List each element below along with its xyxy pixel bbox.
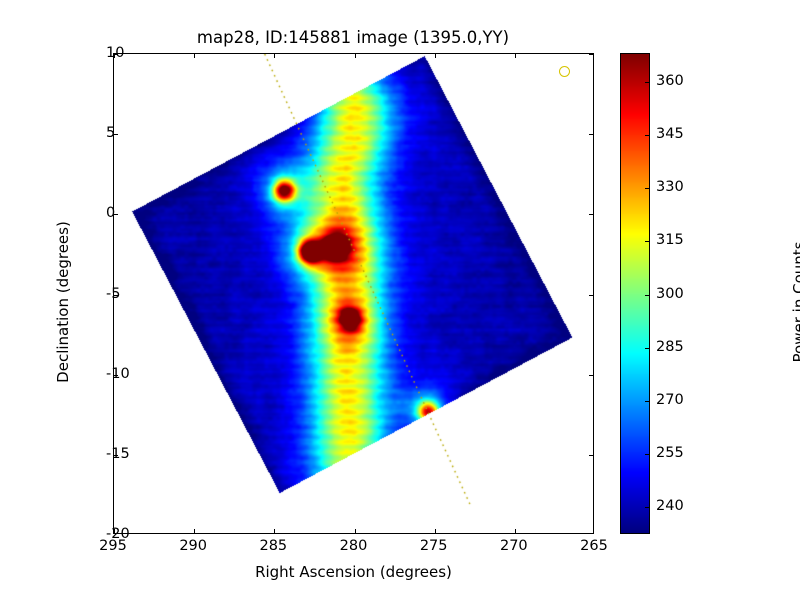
x-tick	[355, 529, 356, 533]
x-tick-top	[194, 54, 195, 58]
colorbar-tick	[645, 507, 649, 508]
colorbar-tick-label: 255	[656, 445, 684, 461]
sky-image	[114, 54, 594, 534]
x-tick-top	[515, 54, 516, 58]
y-tick-right	[589, 455, 593, 456]
x-tick-label: 275	[420, 538, 448, 554]
x-tick-label: 285	[259, 538, 287, 554]
colorbar-tick-label: 330	[656, 179, 684, 195]
y-tick-label: -5	[106, 286, 120, 302]
y-tick-label: 5	[106, 125, 115, 141]
y-tick-right	[589, 375, 593, 376]
colorbar-tick	[645, 454, 649, 455]
colorbar-tick-label: 285	[656, 339, 684, 355]
y-tick-right	[589, 295, 593, 296]
y-tick-right	[589, 134, 593, 135]
x-axis-label: Right Ascension (degrees)	[113, 563, 594, 581]
y-tick-label: 0	[106, 205, 115, 221]
colorbar-tick-label: 315	[656, 232, 684, 248]
y-tick-label: -15	[106, 446, 130, 462]
colorbar-tick	[645, 295, 649, 296]
colorbar-tick	[645, 241, 649, 242]
y-axis-label: Declination (degrees)	[54, 202, 72, 402]
colorbar-tick-label: 270	[656, 392, 684, 408]
colorbar-label: Power in Counts	[790, 202, 800, 402]
figure: map28, ID:145881 image (1395.0,YY) Right…	[0, 0, 800, 600]
colorbar-gradient	[621, 54, 649, 533]
x-tick-label: 290	[179, 538, 207, 554]
colorbar-tick-label: 300	[656, 286, 684, 302]
x-tick-top	[435, 54, 436, 58]
colorbar-tick	[645, 348, 649, 349]
colorbar-tick	[645, 82, 649, 83]
x-tick	[274, 529, 275, 533]
x-tick-label: 265	[580, 538, 608, 554]
x-tick-top	[274, 54, 275, 58]
colorbar-tick-label: 240	[656, 498, 684, 514]
y-tick-label: 10	[106, 45, 124, 61]
y-tick-right	[589, 214, 593, 215]
x-tick-label: 280	[340, 538, 368, 554]
x-tick	[435, 529, 436, 533]
colorbar-tick	[645, 135, 649, 136]
y-tick-label: -10	[106, 366, 130, 382]
x-tick	[515, 529, 516, 533]
colorbar-tick	[645, 188, 649, 189]
colorbar-tick-label: 345	[656, 126, 684, 142]
colorbar-axes[interactable]	[620, 53, 650, 534]
colorbar-tick	[645, 401, 649, 402]
colorbar-tick-label: 360	[656, 73, 684, 89]
sky-image-axes[interactable]	[113, 53, 594, 534]
x-tick-label: 270	[500, 538, 528, 554]
y-tick-right	[589, 54, 593, 55]
x-tick-top	[355, 54, 356, 58]
x-tick	[194, 529, 195, 533]
y-tick-label: -20	[106, 526, 130, 542]
chart-title: map28, ID:145881 image (1395.0,YY)	[113, 28, 593, 47]
